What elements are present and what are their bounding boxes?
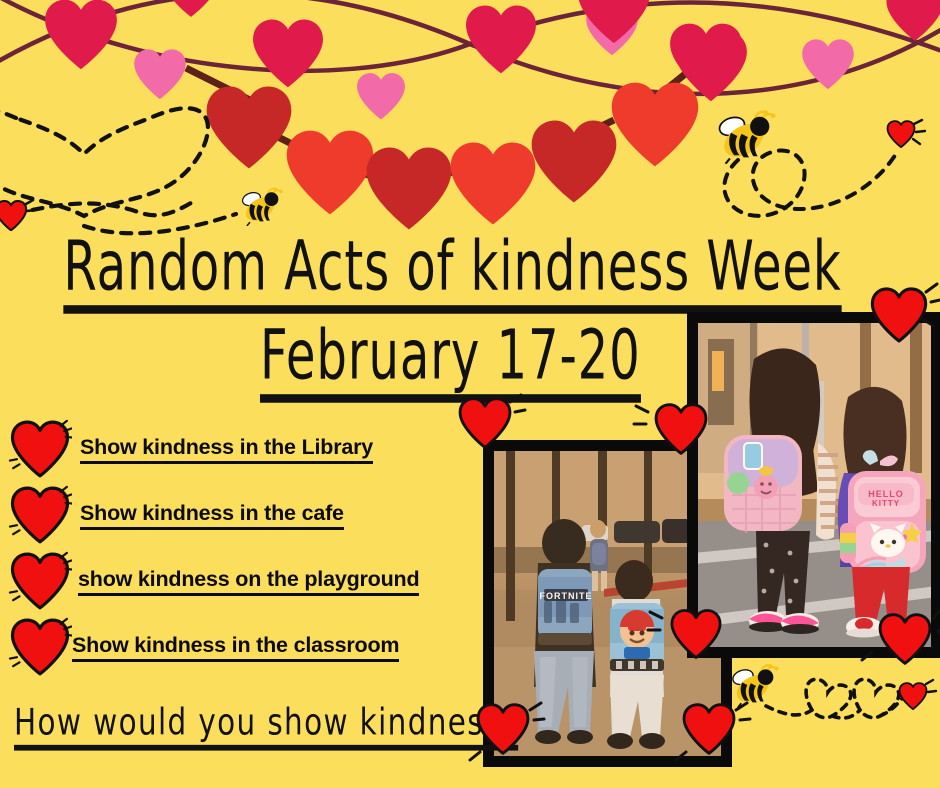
- sparkle-lines: [913, 120, 925, 144]
- list-item-label: Show kindness in the classroom: [72, 633, 399, 662]
- small-heart-icon: [900, 683, 927, 709]
- list-item[interactable]: Show kindness in the cafe: [8, 482, 488, 548]
- heart-icon: [8, 551, 72, 611]
- heart-icon: [8, 419, 72, 479]
- page-subtitle-dates: February 17-20: [260, 321, 641, 403]
- list-item-label: Show kindness in the Library: [80, 435, 373, 464]
- list-item[interactable]: Show kindness in the Library: [8, 416, 488, 482]
- bee-icon-top-right: [717, 110, 775, 164]
- list-item[interactable]: show kindness on the playground: [8, 548, 488, 614]
- kindness-activity-list: Show kindness in the Library Show kindne…: [8, 416, 488, 680]
- poster-canvas: Random Acts of kindness Week February 17…: [0, 0, 940, 788]
- garland-hearts-upper: [45, 0, 940, 119]
- closing-question: How would you show kindness?: [14, 700, 518, 751]
- list-item[interactable]: Show kindness in the classroom: [8, 614, 488, 680]
- dashed-double-heart-trail: [766, 679, 904, 718]
- list-item-label: show kindness on the playground: [78, 567, 419, 596]
- sparkle-lines: [926, 680, 936, 692]
- sparkle-lines: [26, 200, 35, 211]
- garland-string-lower: [186, 62, 700, 180]
- page-title: Random Acts of kindness Week: [63, 232, 841, 314]
- dashed-loop-trail-topright: [724, 150, 896, 215]
- bee-icon-bottom-right: [731, 664, 778, 708]
- list-item-label: Show kindness in the cafe: [80, 501, 344, 530]
- photo-right-artwork: HELLO KITTY: [698, 323, 931, 647]
- heart-icon: [8, 617, 72, 677]
- photo-students-walking-right: HELLO KITTY: [687, 312, 940, 658]
- small-heart-icon: [0, 201, 26, 230]
- dashed-heart-trail-topleft: [0, 108, 236, 233]
- small-heart-icon: [888, 121, 915, 147]
- garland-hearts-lower: [207, 32, 747, 230]
- heart-icon: [8, 485, 72, 545]
- bee-icon-left: [241, 187, 283, 225]
- garland-string-upper: [0, 0, 940, 94]
